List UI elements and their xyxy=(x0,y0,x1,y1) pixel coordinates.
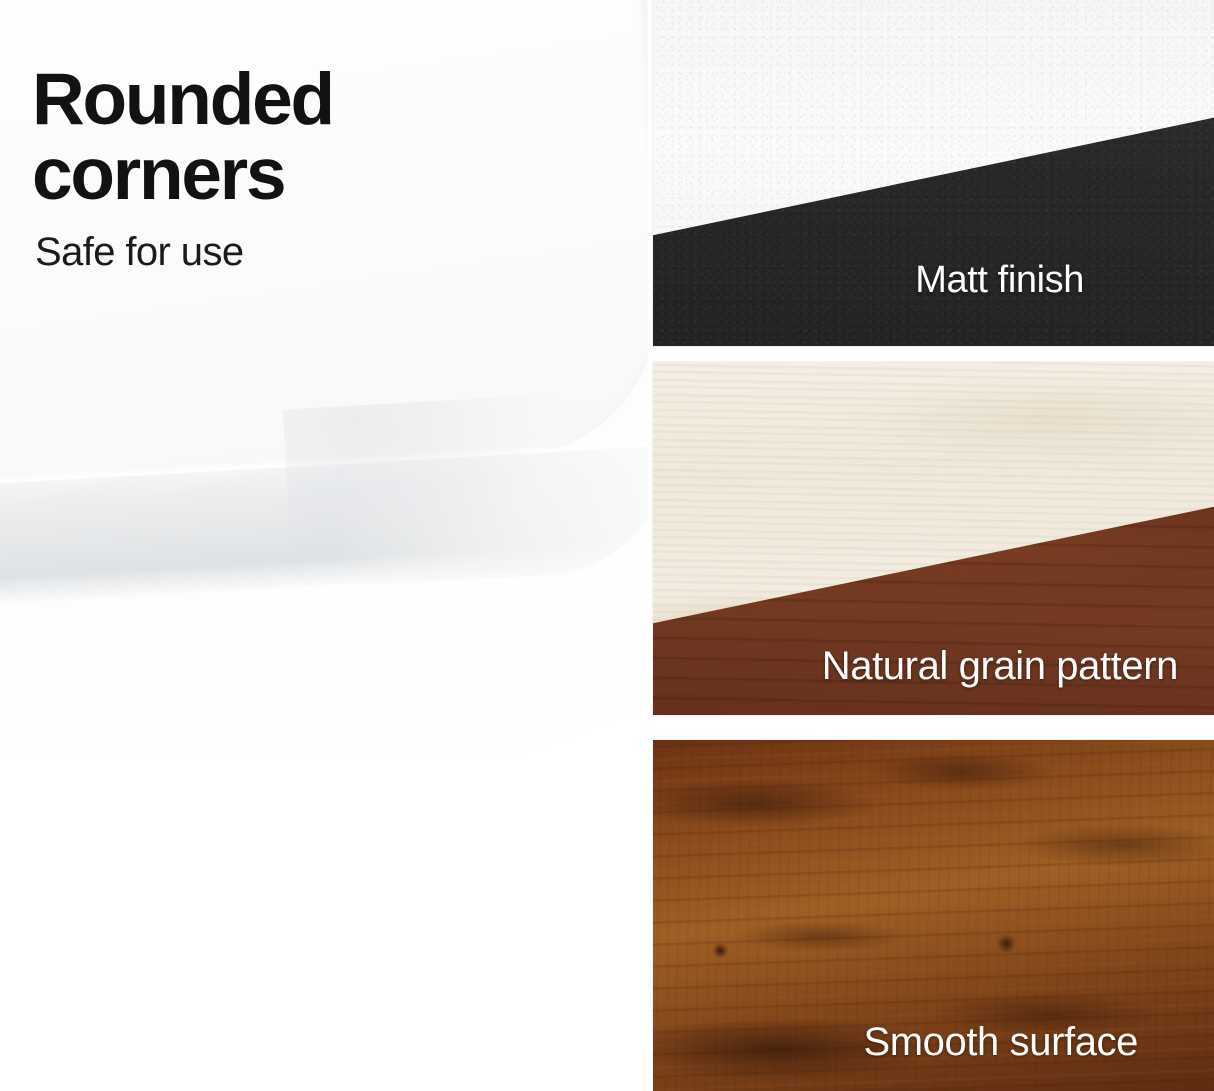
product-feature-image: Rounded corners Safe for use Matt finish… xyxy=(0,0,1214,1091)
swatch-matt-finish: Matt finish xyxy=(653,0,1214,346)
swatch-natural-grain: Natural grain pattern xyxy=(653,362,1214,715)
headline: Rounded corners xyxy=(32,62,592,212)
subheadline: Safe for use xyxy=(35,230,592,274)
rounded-corners-panel: Rounded corners Safe for use xyxy=(0,0,648,1091)
swatch-3-label: Smooth surface xyxy=(863,1020,1138,1065)
material-swatch-column: Matt finish Natural grain pattern Smooth… xyxy=(653,0,1214,1091)
headline-line-2: corners xyxy=(32,134,284,215)
headline-block: Rounded corners Safe for use xyxy=(32,62,592,274)
swatch-1-label: Matt finish xyxy=(915,259,1084,302)
headline-line-1: Rounded xyxy=(32,59,333,140)
swatch-2-label: Natural grain pattern xyxy=(822,644,1178,689)
swatch-smooth-surface: Smooth surface xyxy=(653,740,1214,1091)
